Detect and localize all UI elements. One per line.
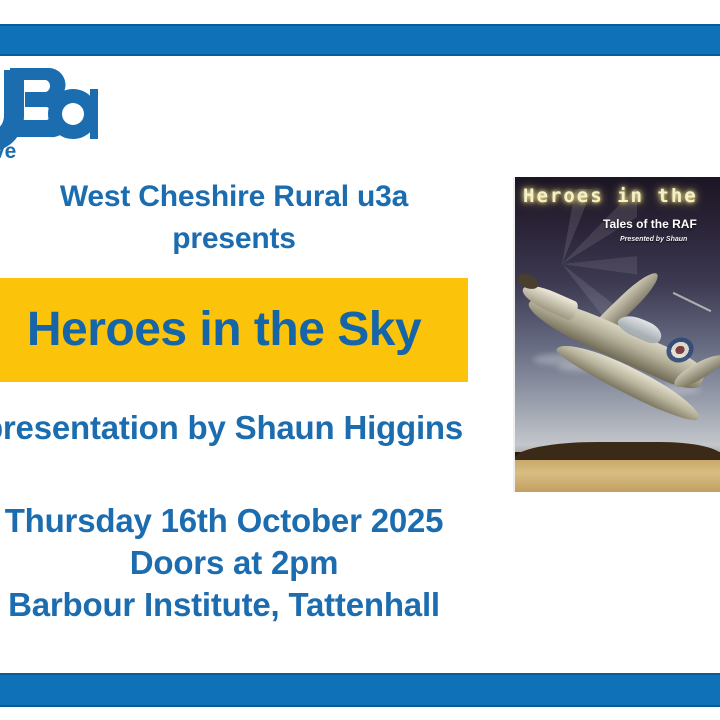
poster-subtitle-text: Tales of the RAF [603,217,697,231]
heroes-in-the-sky-poster-image: Heroes in the Tales of the RAF Presented… [513,177,720,492]
spitfire-antenna [673,292,712,312]
organisation-heading: West Cheshire Rural u3a [0,180,468,214]
presenter-line: presentation by Shaun Higgins [0,409,468,447]
top-divider-bar [0,24,720,56]
event-venue: Barbour Institute, Tattenhall [0,586,468,624]
spitfire-aircraft [521,213,720,428]
bottom-divider-bar [0,673,720,707]
doors-time: Doors at 2pm [0,544,468,582]
event-date: Thursday 16th October 2025 [0,502,468,540]
event-title-band: Heroes in the Sky [0,278,468,382]
poster-treeline [515,442,720,460]
event-title: Heroes in the Sky [0,278,468,382]
poster-title-text: Heroes in the [523,185,720,207]
u3a-logo: gh, live [0,52,98,164]
u3a-logo-tagline: gh, live [0,140,16,163]
event-poster: gh, live West Cheshire Rural u3a present… [0,0,720,720]
poster-credit-text: Presented by Shaun [620,236,687,243]
poster-field [515,460,720,492]
presents-label: presents [0,222,468,256]
